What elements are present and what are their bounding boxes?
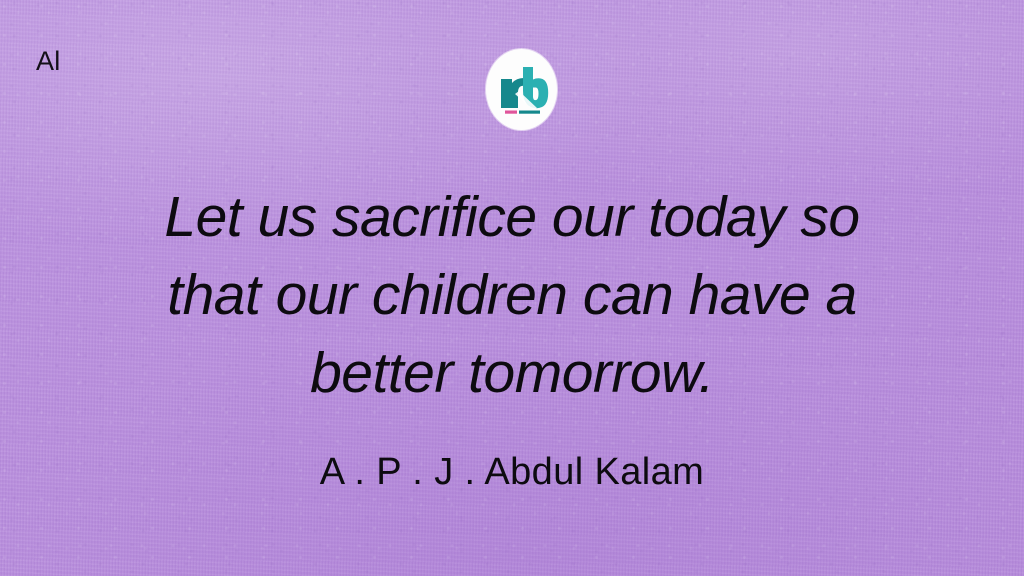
- corner-label-al: Al: [36, 48, 61, 75]
- quote-attribution: A . P . J . Abdul Kalam: [0, 449, 1024, 495]
- quote-line-3: better tomorrow.: [0, 334, 1024, 412]
- quote-slide: Al Let us sacrifice our today so that ou…: [0, 0, 1024, 576]
- quote-line-2: that our children can have a: [0, 256, 1024, 334]
- wordmark-accent-bar: [505, 110, 517, 113]
- nb-monogram-icon: [493, 61, 551, 119]
- quote-text: Let us sacrifice our today so that our c…: [0, 178, 1024, 412]
- nb-academy-logo: [486, 49, 557, 130]
- wordmark-bar: [519, 110, 540, 113]
- quote-line-1: Let us sacrifice our today so: [0, 178, 1024, 256]
